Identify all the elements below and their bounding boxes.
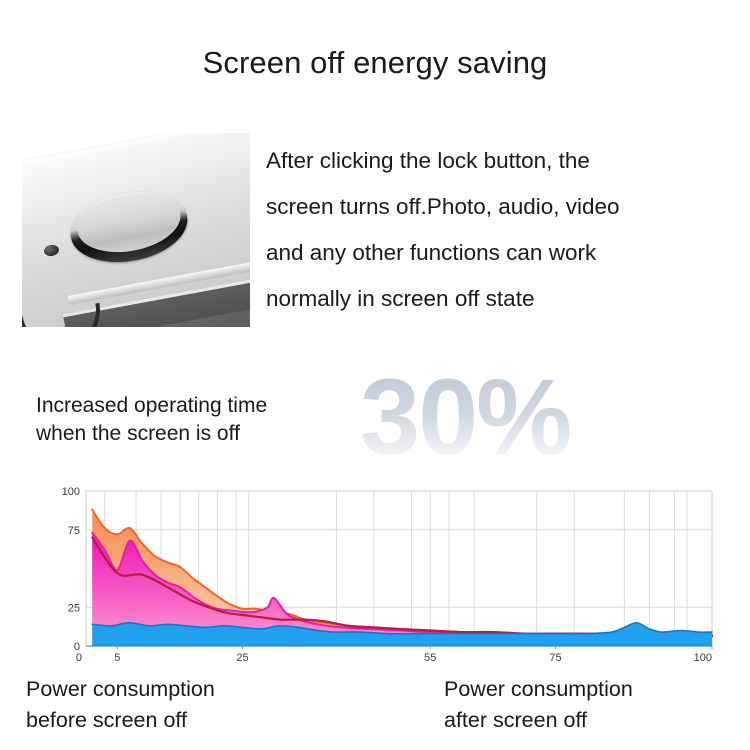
caption-after-line-2: after screen off (444, 705, 744, 736)
page-title: Screen off energy saving (0, 45, 750, 81)
description-line-3: and any other functions can work (266, 230, 728, 276)
y-tick-100: 100 (62, 486, 80, 498)
x-tick-5: 5 (114, 652, 120, 664)
caption-before-screen-off: Power consumption before screen off (26, 674, 336, 736)
description-line-4: normally in screen off state (266, 276, 728, 322)
product-photo (22, 133, 250, 327)
caption-before-line-2: before screen off (26, 705, 336, 736)
power-consumption-chart: 0257510005255575100 (58, 483, 718, 668)
description-line-1: After clicking the lock button, the (266, 138, 728, 184)
x-tick-25: 25 (236, 652, 248, 664)
y-tick-25: 25 (68, 602, 80, 614)
y-tick-75: 75 (68, 525, 80, 537)
description-line-2: screen turns off.Photo, audio, video (266, 184, 728, 230)
chart-caption: Increased operating time when the screen… (36, 392, 366, 448)
x-tick-55: 55 (424, 652, 436, 664)
caption-after-line-1: Power consumption (444, 674, 744, 705)
caption-after-screen-off: Power consumption after screen off (444, 674, 744, 736)
percent-watermark: 30% (360, 363, 570, 471)
chart-svg: 0257510005255575100 (58, 483, 718, 668)
chart-caption-line-1: Increased operating time (36, 392, 366, 420)
x-tick-75: 75 (549, 652, 561, 664)
x-tick-100: 100 (694, 652, 712, 664)
description-text: After clicking the lock button, the scre… (266, 138, 728, 322)
chart-caption-line-2: when the screen is off (36, 420, 366, 448)
caption-before-line-1: Power consumption (26, 674, 336, 705)
x-tick-0: 0 (76, 652, 82, 664)
